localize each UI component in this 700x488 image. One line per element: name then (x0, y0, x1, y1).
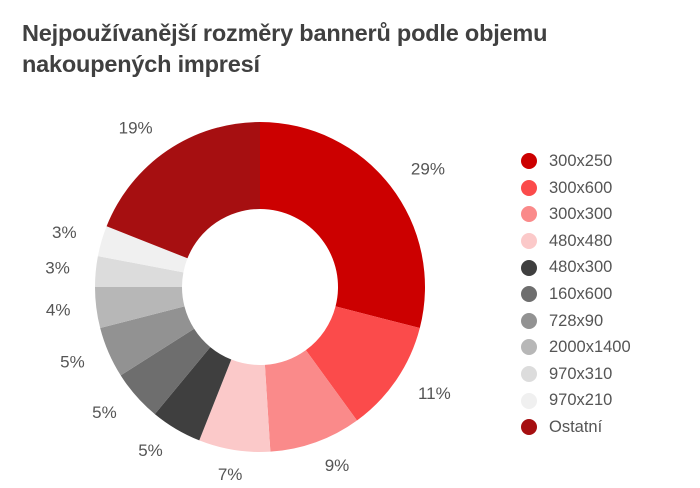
legend-item-label: 160x600 (549, 286, 612, 303)
donut-slices (95, 122, 425, 452)
slice-value-label: 9% (325, 456, 350, 475)
slice-value-label: 3% (45, 259, 70, 278)
legend-item[interactable]: Ostatní (521, 414, 696, 441)
legend-item[interactable]: 2000x1400 (521, 334, 696, 361)
page-title: Nejpoužívanější rozměry bannerů podle ob… (22, 18, 642, 81)
legend-item[interactable]: 480x480 (521, 228, 696, 255)
legend-color-swatch-icon (521, 153, 537, 169)
legend-color-swatch-icon (521, 233, 537, 249)
legend-item-label: 300x600 (549, 180, 612, 197)
legend-color-swatch-icon (521, 393, 537, 409)
slice-value-label: 29% (411, 159, 445, 178)
slice-value-label: 3% (52, 223, 77, 242)
chart-page: Nejpoužívanější rozměry bannerů podle ob… (0, 0, 700, 488)
legend-item-label: Ostatní (549, 419, 602, 436)
legend-item-label: 480x300 (549, 259, 612, 276)
legend-item[interactable]: 728x90 (521, 308, 696, 335)
legend-color-swatch-icon (521, 286, 537, 302)
slice-value-label: 19% (119, 119, 153, 138)
slice-value-label: 5% (60, 352, 85, 371)
slice-value-label: 5% (92, 403, 117, 422)
donut-chart: 29%11%9%7%5%5%5%4%3%3%19% (0, 95, 505, 488)
legend-item[interactable]: 300x600 (521, 175, 696, 202)
legend-item[interactable]: 300x300 (521, 201, 696, 228)
legend-item[interactable]: 480x300 (521, 254, 696, 281)
slice-value-label: 5% (138, 441, 163, 460)
legend-item-label: 728x90 (549, 313, 603, 330)
legend-color-swatch-icon (521, 313, 537, 329)
legend-item[interactable]: 160x600 (521, 281, 696, 308)
legend-item[interactable]: 970x310 (521, 361, 696, 388)
legend-color-swatch-icon (521, 180, 537, 196)
legend-item-label: 970x310 (549, 366, 612, 383)
legend-item-label: 480x480 (549, 233, 612, 250)
legend-color-swatch-icon (521, 339, 537, 355)
donut-slice[interactable] (260, 122, 425, 328)
legend-color-swatch-icon (521, 419, 537, 435)
legend-item[interactable]: 970x210 (521, 387, 696, 414)
chart-legend: 300x250300x600300x300480x480480x300160x6… (521, 148, 696, 441)
legend-color-swatch-icon (521, 206, 537, 222)
legend-item-label: 300x300 (549, 206, 612, 223)
legend-color-swatch-icon (521, 260, 537, 276)
donut-chart-svg: 29%11%9%7%5%5%5%4%3%3%19% (0, 95, 505, 488)
legend-item-label: 300x250 (549, 153, 612, 170)
legend-item-label: 2000x1400 (549, 339, 631, 356)
legend-item[interactable]: 300x250 (521, 148, 696, 175)
slice-value-label: 11% (418, 384, 451, 403)
legend-color-swatch-icon (521, 366, 537, 382)
legend-item-label: 970x210 (549, 392, 612, 409)
slice-value-label: 4% (46, 300, 71, 319)
slice-value-label: 7% (218, 465, 243, 484)
